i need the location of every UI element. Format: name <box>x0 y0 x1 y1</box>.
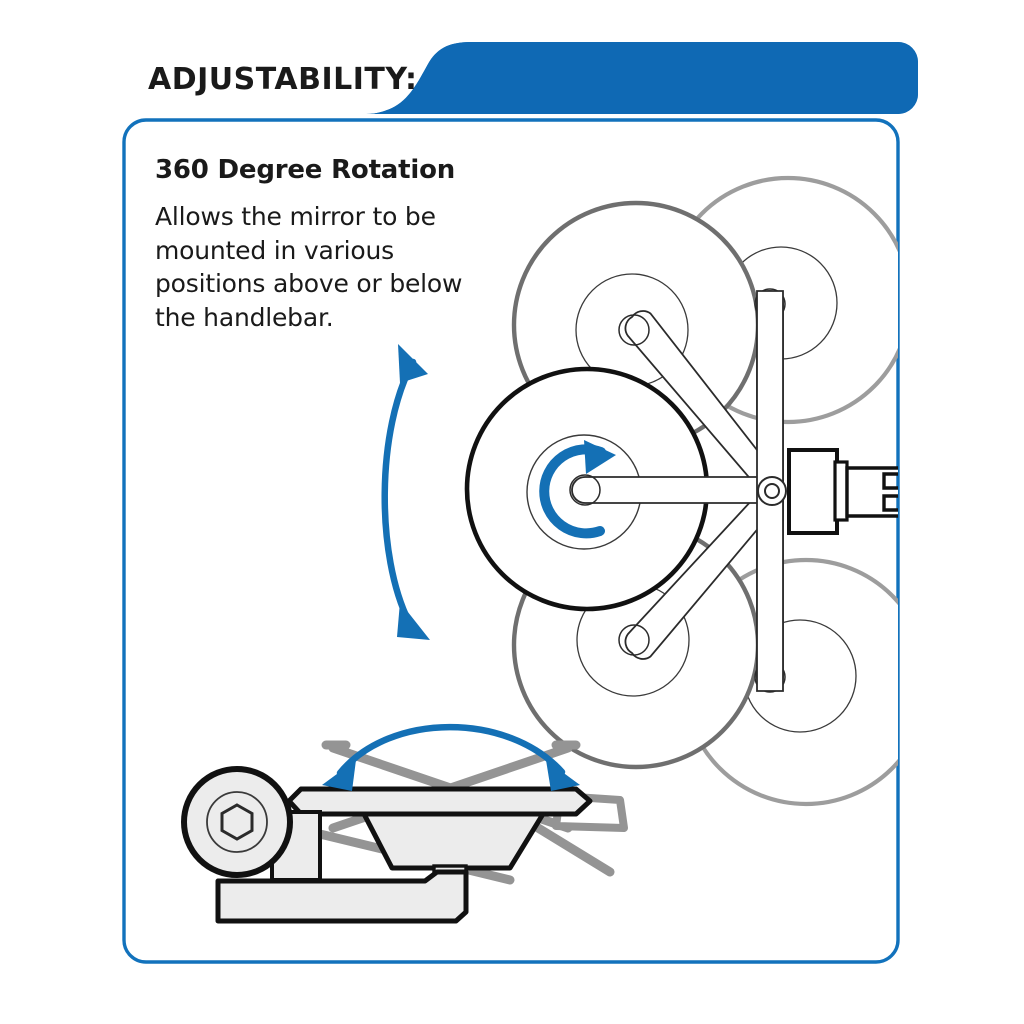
hex-bolt-disc <box>184 769 290 875</box>
product-illustration <box>0 0 1024 1024</box>
callout-body: Allows the mirror to be mounted in vario… <box>155 200 495 334</box>
callout-heading: 360 Degree Rotation <box>155 155 455 185</box>
page-title: ADJUSTABILITY: <box>148 62 418 97</box>
pivot-bolt <box>758 477 786 505</box>
mirror-arm-main <box>570 475 775 505</box>
mirror-plate <box>289 789 590 814</box>
header-banner <box>366 42 918 114</box>
mount-base <box>218 872 466 921</box>
illustration-page: ADJUSTABILITY: 360 Degree Rotation Allow… <box>0 0 1024 1024</box>
